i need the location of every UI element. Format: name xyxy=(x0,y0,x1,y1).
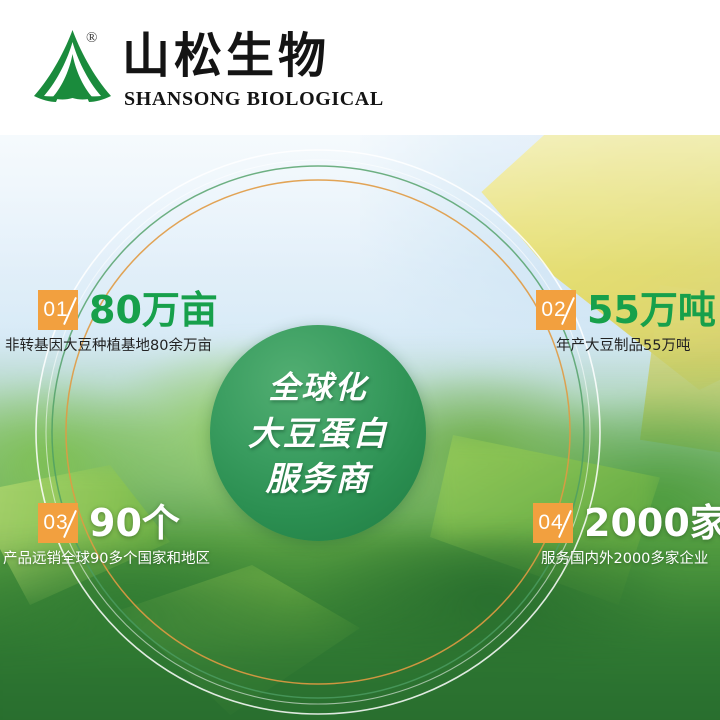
stat-row-01: 01 80万亩 xyxy=(38,290,218,330)
stat-block-04: 04 2000家 服务国内外2000多家企业 xyxy=(533,503,720,568)
stat-caption-04: 服务国内外2000多家企业 xyxy=(541,550,720,568)
center-slogan-circle: 全球化 大豆蛋白 服务商 xyxy=(210,325,426,541)
stat-block-01: 01 80万亩 非转基因大豆种植基地80余万亩 xyxy=(38,290,218,355)
slogan-group: 全球化 大豆蛋白 服务商 xyxy=(210,325,426,541)
registered-trademark-icon: ® xyxy=(86,30,97,47)
stat-value-02: 55万吨 xyxy=(587,290,716,330)
stat-index-03: 03 xyxy=(38,503,78,543)
stat-badge-02: 02 xyxy=(536,290,576,330)
page-header: ® 山松生物 SHANSONG BIOLOGICAL xyxy=(0,0,720,135)
company-name-chinese: 山松生物 xyxy=(122,30,330,82)
stat-value-01: 80万亩 xyxy=(89,290,218,330)
stat-caption-02: 年产大豆制品55万吨 xyxy=(556,337,716,355)
stat-row-04: 04 2000家 xyxy=(533,503,720,543)
promo-banner-page: ® 山松生物 SHANSONG BIOLOGICAL 全球化 大豆蛋白 服务 xyxy=(0,0,720,720)
stat-row-02: 02 55万吨 xyxy=(536,290,716,330)
tripod-triangle-logo-icon xyxy=(30,28,115,106)
banner-stage: 全球化 大豆蛋白 服务商 01 80万亩 非转基因大豆种植基地80余万亩 02 xyxy=(0,135,720,720)
slogan-line-2: 大豆蛋白 xyxy=(248,412,388,455)
stat-block-03: 03 90个 产品远销全球90多个国家和地区 xyxy=(38,503,210,568)
stat-caption-03: 产品远销全球90多个国家和地区 xyxy=(3,550,210,568)
stat-caption-01: 非转基因大豆种植基地80余万亩 xyxy=(5,337,218,355)
stat-badge-04: 04 xyxy=(533,503,573,543)
stat-block-02: 02 55万吨 年产大豆制品55万吨 xyxy=(536,290,716,355)
stat-value-03: 90个 xyxy=(89,503,180,543)
stat-badge-01: 01 xyxy=(38,290,78,330)
stat-row-03: 03 90个 xyxy=(38,503,210,543)
stat-value-04: 2000家 xyxy=(584,503,720,543)
slogan-line-3: 服务商 xyxy=(266,457,371,500)
stat-index-01: 01 xyxy=(38,290,78,330)
company-name-english: SHANSONG BIOLOGICAL xyxy=(124,88,384,110)
stat-index-04: 04 xyxy=(533,503,573,543)
stat-index-02: 02 xyxy=(536,290,576,330)
slogan-line-1: 全球化 xyxy=(269,367,368,410)
stat-badge-03: 03 xyxy=(38,503,78,543)
